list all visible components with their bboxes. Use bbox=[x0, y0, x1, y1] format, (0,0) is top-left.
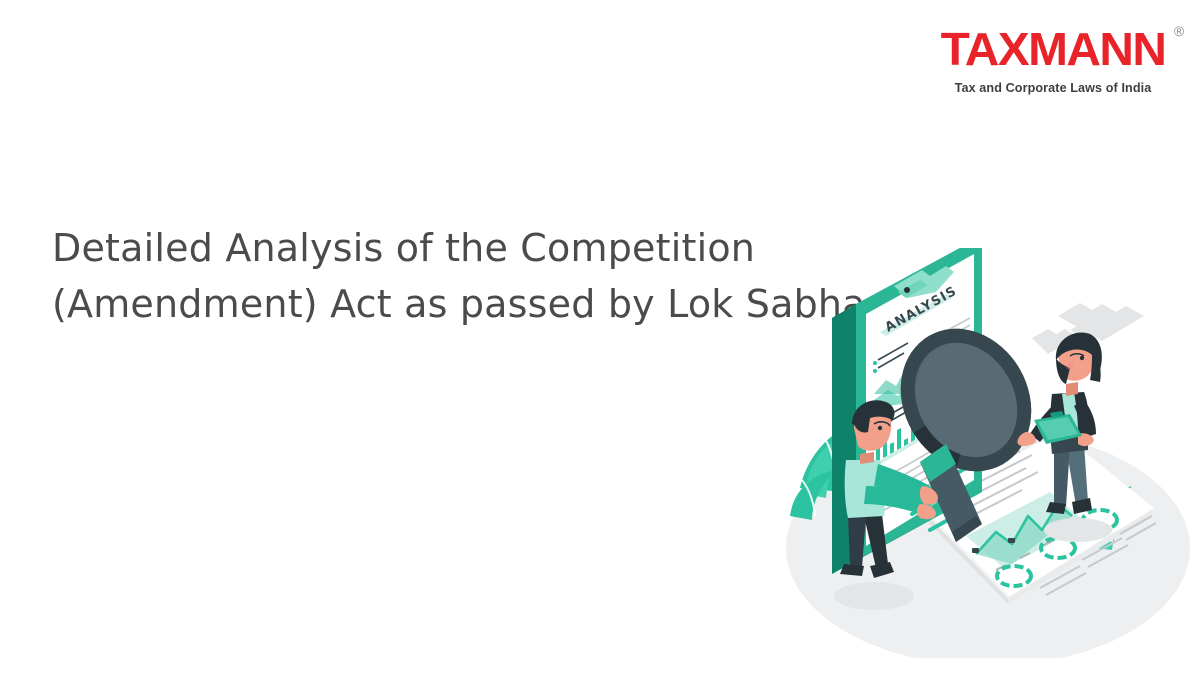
registered-trademark-icon: ® bbox=[1174, 24, 1184, 38]
brand-wordmark-text: TAXMANN bbox=[941, 23, 1166, 75]
brand-tagline: Tax and Corporate Laws of India bbox=[938, 81, 1168, 95]
page-title-line-1: Detailed Analysis of the Competition bbox=[52, 221, 862, 276]
page-title: Detailed Analysis of the Competition (Am… bbox=[52, 221, 862, 331]
banner-canvas: TAXMANN ® Tax and Corporate Laws of Indi… bbox=[0, 0, 1200, 675]
analysis-illustration: ANALYSIS bbox=[770, 248, 1190, 658]
page-title-line-2: (Amendment) Act as passed by Lok Sabha bbox=[52, 277, 862, 332]
brand-wordmark: TAXMANN ® bbox=[941, 26, 1166, 72]
analysis-illustration-svg: ANALYSIS bbox=[770, 248, 1190, 658]
taxmann-logo: TAXMANN ® Tax and Corporate Laws of Indi… bbox=[938, 26, 1168, 95]
